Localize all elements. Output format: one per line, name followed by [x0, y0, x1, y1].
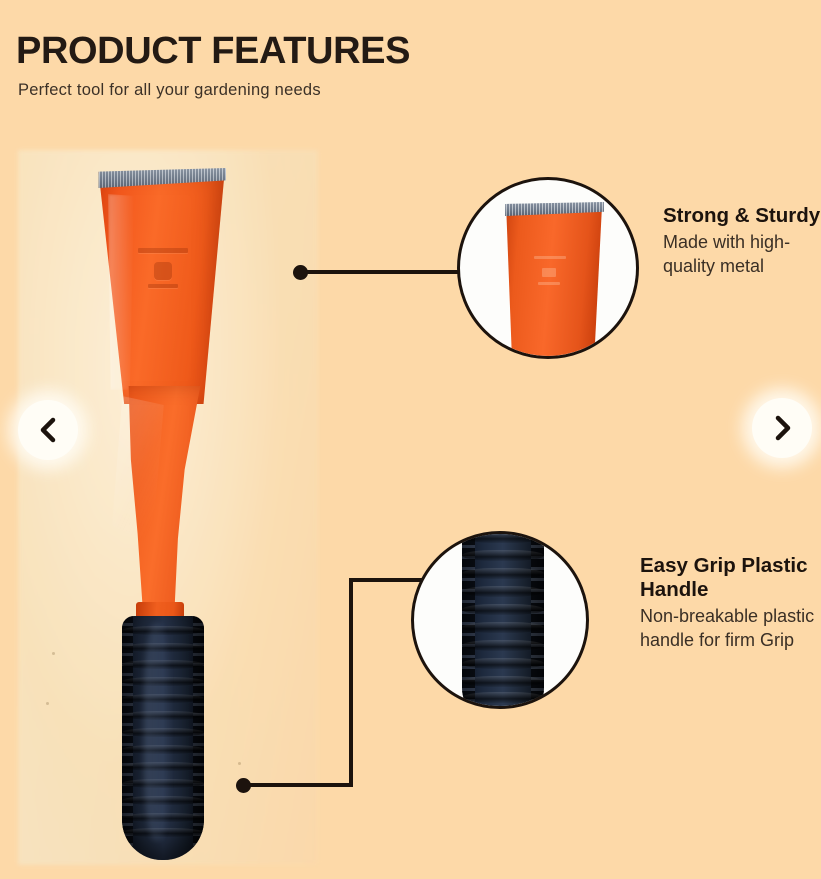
feature-2-text: Easy Grip Plastic Handle Non-breakable p…	[640, 554, 821, 652]
tool-brand-emboss	[136, 246, 192, 292]
feature-1-title: Strong & Sturdy	[663, 204, 821, 228]
feature-2-zoom-circle	[411, 531, 589, 709]
backdrop-speck	[52, 652, 55, 655]
page-subtitle: Perfect tool for all your gardening need…	[18, 81, 576, 100]
feature-1-zoom-circle	[457, 177, 639, 359]
header: PRODUCT FEATURES Perfect tool for all yo…	[16, 32, 576, 100]
handle-left-notches	[122, 616, 133, 860]
handle-highlight	[144, 624, 170, 840]
chevron-left-icon	[38, 416, 58, 444]
tool-handle	[122, 616, 204, 860]
feature-1-text: Strong & Sturdy Made with high-quality m…	[663, 204, 821, 278]
page-title: PRODUCT FEATURES	[16, 32, 576, 72]
product-image	[60, 150, 300, 865]
callout-1-connector-line	[300, 270, 465, 274]
callout-2-connector-vertical	[349, 578, 353, 787]
backdrop-speck	[46, 702, 49, 705]
feature-2-description: Non-breakable plastic handle for firm Gr…	[640, 605, 821, 652]
callout-2-connector-horizontal-lower	[243, 783, 353, 787]
feature-1-description: Made with high-quality metal	[663, 231, 821, 278]
carousel-prev-button[interactable]	[18, 400, 78, 460]
tool-blade-highlight	[108, 194, 134, 390]
product-features-slide: PRODUCT FEATURES Perfect tool for all yo…	[0, 0, 821, 879]
chevron-right-icon	[772, 414, 792, 442]
handle-right-notches	[193, 616, 204, 860]
carousel-next-button[interactable]	[752, 398, 812, 458]
feature-2-title: Easy Grip Plastic Handle	[640, 554, 821, 602]
